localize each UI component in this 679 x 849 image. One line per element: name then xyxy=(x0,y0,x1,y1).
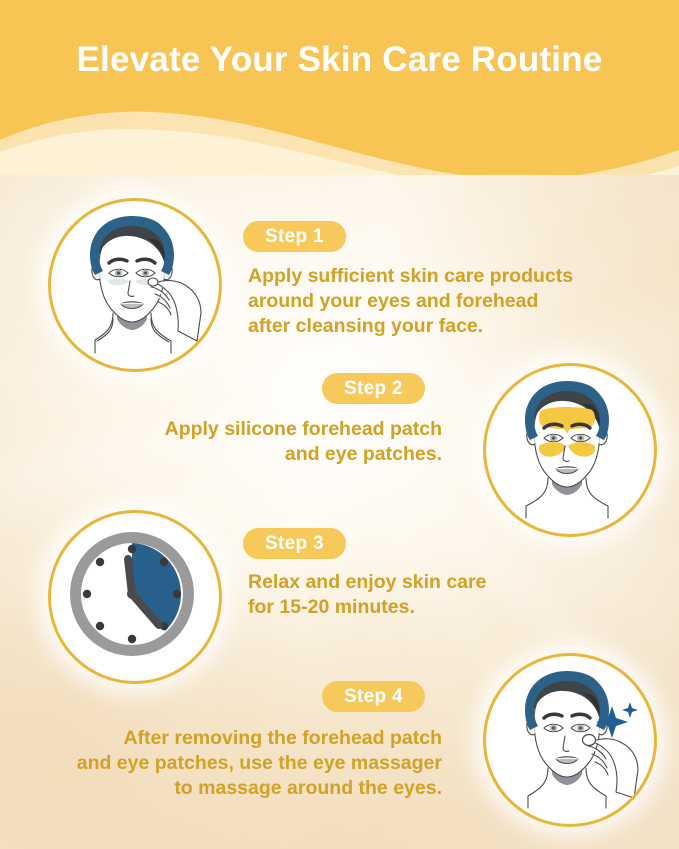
step-3-badge: Step 3 xyxy=(243,528,346,559)
step-2-description: Apply silicone forehead patch and eye pa… xyxy=(60,417,442,467)
step-4-badge: Step 4 xyxy=(322,681,425,712)
step-1-illustration-circle xyxy=(48,198,222,372)
step-1-badge: Step 1 xyxy=(243,221,346,252)
header-wave-shape xyxy=(0,0,679,175)
step-2-illustration-circle xyxy=(483,363,657,537)
header-banner: Elevate Your Skin Care Routine xyxy=(0,0,679,175)
step-4-illustration-circle xyxy=(483,653,657,827)
step-2-badge: Step 2 xyxy=(322,373,425,404)
face-with-massager-icon xyxy=(486,656,648,818)
step-1-description: Apply sufficient skin care products arou… xyxy=(248,264,648,339)
face-with-patches-icon xyxy=(486,366,648,528)
page-title: Elevate Your Skin Care Routine xyxy=(0,38,679,82)
step-3-illustration-circle xyxy=(48,510,222,684)
clock-icon xyxy=(51,513,213,675)
face-applying-cream-icon xyxy=(51,201,213,363)
step-3-description: Relax and enjoy skin care for 15-20 minu… xyxy=(248,570,648,620)
skincare-routine-infographic: Elevate Your Skin Care Routine xyxy=(0,0,679,849)
step-4-description: After removing the forehead patch and ey… xyxy=(20,726,442,801)
